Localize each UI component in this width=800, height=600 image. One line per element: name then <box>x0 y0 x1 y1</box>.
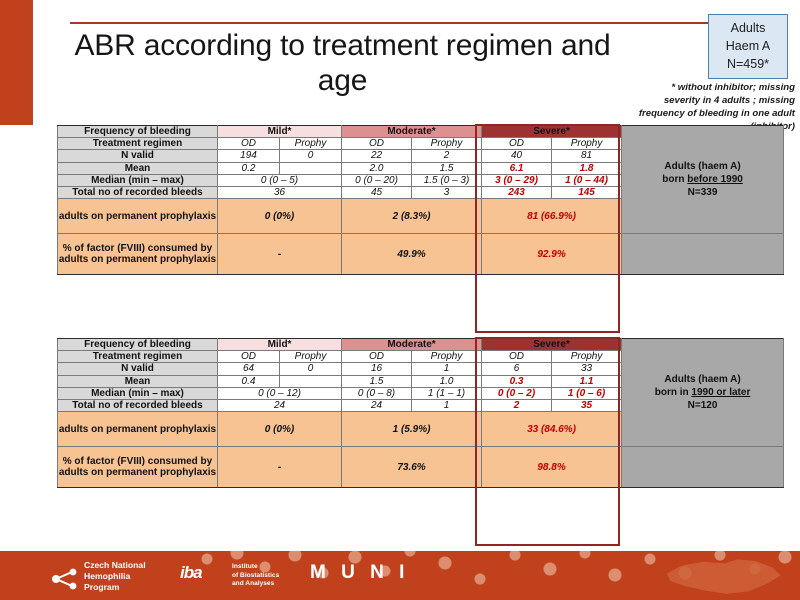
t1-factor-severe: 92.9% <box>482 234 622 275</box>
label-n-valid: N valid <box>58 150 218 162</box>
t2-total-severe-prophy: 35 <box>552 399 622 411</box>
t1-median-mild: 0 (0 – 5) <box>218 174 342 186</box>
callout-line-2: Haem A <box>711 37 785 55</box>
regimen-mild-prophy: Prophy <box>280 138 342 150</box>
t2-mean-moderate-prophy: 1.0 <box>412 375 482 387</box>
accent-block-left <box>0 0 33 125</box>
footnote-line-1: * without inhibitor; missing <box>610 82 795 95</box>
side-panel-line-3: N=120 <box>622 399 783 412</box>
regimen-severe-prophy: Prophy <box>552 351 622 363</box>
logo-czech-text: Czech National Hemophilia Program <box>84 560 146 593</box>
label-total-bleeds: Total no of recorded bleeds <box>58 399 218 411</box>
t2-n-valid-severe-prophy: 33 <box>552 363 622 375</box>
callout-adults-haem-a: Adults Haem A N=459* <box>708 14 788 79</box>
footnote-line-2: severity in 4 adults ; missing <box>610 95 795 108</box>
iba-wordmark: iba <box>180 563 202 583</box>
header-treatment-regimen: Treatment regimen <box>58 351 218 363</box>
regimen-moderate-prophy: Prophy <box>412 351 482 363</box>
t2-prophylaxis-mild: 0 (0%) <box>218 412 342 447</box>
header-frequency-of-bleeding: Frequency of bleeding <box>58 126 218 138</box>
label-permanent-prophylaxis: adults on permanent prophylaxis <box>58 412 218 447</box>
t2-prophylaxis-severe: 33 (84.6%) <box>482 412 622 447</box>
t2-factor-severe: 98.8% <box>482 447 622 488</box>
footer-band: Czech National Hemophilia Program iba In… <box>0 551 800 600</box>
t1-mean-severe-od: 6.1 <box>482 162 552 174</box>
table-row-factor-consumed: % of factor (FVIII) consumed by adults o… <box>58 234 784 275</box>
t1-mean-moderate-od: 2.0 <box>342 162 412 174</box>
t1-prophylaxis-moderate: 2 (8.3%) <box>342 199 482 234</box>
logo-muni: M U N I <box>310 562 409 584</box>
t1-median-moderate-od: 0 (0 – 20) <box>342 174 412 186</box>
side-panel-line-1: Adults (haem A) <box>622 160 783 173</box>
side-panel-spacer-2 <box>622 447 784 488</box>
t2-factor-mild: - <box>218 447 342 488</box>
t2-total-moderate-od: 24 <box>342 399 412 411</box>
iba-subtitle: Institute of Biostatistics and Analyses <box>232 563 279 589</box>
t1-total-moderate-prophy: 3 <box>412 186 482 198</box>
regimen-mild-od: OD <box>218 351 280 363</box>
t2-mean-mild-od: 0.4 <box>218 375 280 387</box>
table-born-1990-or-later: Frequency of bleeding Mild* Moderate* Se… <box>57 338 784 488</box>
regimen-severe-od: OD <box>482 138 552 150</box>
footnote-line-3: frequency of bleeding in one adult <box>610 108 795 121</box>
label-factor-consumed: % of factor (FVIII) consumed by adults o… <box>58 447 218 488</box>
side-panel-line-2: born in 1990 or later <box>622 386 783 399</box>
t2-median-severe-od: 0 (0 – 2) <box>482 387 552 399</box>
side-panel-spacer-1 <box>622 234 784 275</box>
t1-n-valid-moderate-prophy: 2 <box>412 150 482 162</box>
header-moderate: Moderate* <box>342 126 482 138</box>
t1-prophylaxis-mild: 0 (0%) <box>218 199 342 234</box>
callout-line-3: N=459* <box>711 55 785 73</box>
t2-prophylaxis-moderate: 1 (5.9%) <box>342 412 482 447</box>
t2-total-moderate-prophy: 1 <box>412 399 482 411</box>
regimen-mild-od: OD <box>218 138 280 150</box>
regimen-moderate-od: OD <box>342 351 412 363</box>
t2-total-mild: 24 <box>218 399 342 411</box>
t1-factor-moderate: 49.9% <box>342 234 482 275</box>
t2-total-severe-od: 2 <box>482 399 552 411</box>
side-panel-born-1990-or-later: Adults (haem A) born in 1990 or later N=… <box>622 339 784 447</box>
title-rule <box>70 22 783 24</box>
table-row-factor-consumed: % of factor (FVIII) consumed by adults o… <box>58 447 784 488</box>
regimen-severe-od: OD <box>482 351 552 363</box>
side-panel-line-2: born before 1990 <box>622 173 783 186</box>
t2-factor-moderate: 73.6% <box>342 447 482 488</box>
t1-median-moderate-prophy: 1.5 (0 – 3) <box>412 174 482 186</box>
header-severe: Severe* <box>482 339 622 351</box>
t1-total-mild: 36 <box>218 186 342 198</box>
label-median: Median (min – max) <box>58 387 218 399</box>
t1-n-valid-moderate-od: 22 <box>342 150 412 162</box>
t2-median-moderate-prophy: 1 (1 – 1) <box>412 387 482 399</box>
t2-median-moderate-od: 0 (0 – 8) <box>342 387 412 399</box>
label-n-valid: N valid <box>58 363 218 375</box>
side-panel-line-3: N=339 <box>622 186 783 199</box>
t1-factor-mild: - <box>218 234 342 275</box>
table-row-header-severity: Frequency of bleeding Mild* Moderate* Se… <box>58 126 784 138</box>
label-mean: Mean <box>58 375 218 387</box>
label-total-bleeds: Total no of recorded bleeds <box>58 186 218 198</box>
t2-mean-severe-prophy: 1.1 <box>552 375 622 387</box>
t1-total-severe-prophy: 145 <box>552 186 622 198</box>
t2-n-valid-mild-prophy: 0 <box>280 363 342 375</box>
label-permanent-prophylaxis: adults on permanent prophylaxis <box>58 199 218 234</box>
t1-median-severe-prophy: 1 (0 – 44) <box>552 174 622 186</box>
side-panel-born-before-1990: Adults (haem A) born before 1990 N=339 <box>622 126 784 234</box>
t1-mean-moderate-prophy: 1.5 <box>412 162 482 174</box>
t1-n-valid-severe-prophy: 81 <box>552 150 622 162</box>
table-row-header-severity: Frequency of bleeding Mild* Moderate* Se… <box>58 339 784 351</box>
label-median: Median (min – max) <box>58 174 218 186</box>
page-title: ABR according to treatment regimen and a… <box>70 28 615 99</box>
callout-line-1: Adults <box>711 19 785 37</box>
header-severe: Severe* <box>482 126 622 138</box>
t1-prophylaxis-severe: 81 (66.9%) <box>482 199 622 234</box>
table-born-before-1990: Frequency of bleeding Mild* Moderate* Se… <box>57 125 784 275</box>
t2-n-valid-severe-od: 6 <box>482 363 552 375</box>
t2-median-severe-prophy: 1 (0 – 6) <box>552 387 622 399</box>
t1-total-moderate-od: 45 <box>342 186 412 198</box>
t2-mean-severe-od: 0.3 <box>482 375 552 387</box>
t2-median-mild: 0 (0 – 12) <box>218 387 342 399</box>
side-panel-line-1: Adults (haem A) <box>622 373 783 386</box>
regimen-moderate-od: OD <box>342 138 412 150</box>
header-mild: Mild* <box>218 126 342 138</box>
header-frequency-of-bleeding: Frequency of bleeding <box>58 339 218 351</box>
t1-mean-mild-prophy <box>280 162 342 174</box>
regimen-mild-prophy: Prophy <box>280 351 342 363</box>
regimen-moderate-prophy: Prophy <box>412 138 482 150</box>
t1-n-valid-mild-prophy: 0 <box>280 150 342 162</box>
t2-n-valid-moderate-od: 16 <box>342 363 412 375</box>
label-mean: Mean <box>58 162 218 174</box>
t1-n-valid-severe-od: 40 <box>482 150 552 162</box>
header-moderate: Moderate* <box>342 339 482 351</box>
molecule-icon <box>52 568 78 590</box>
t1-n-valid-mild-od: 194 <box>218 150 280 162</box>
t1-total-severe-od: 243 <box>482 186 552 198</box>
t2-mean-mild-prophy <box>280 375 342 387</box>
t2-n-valid-mild-od: 64 <box>218 363 280 375</box>
header-treatment-regimen: Treatment regimen <box>58 138 218 150</box>
t1-median-severe-od: 3 (0 – 29) <box>482 174 552 186</box>
t2-n-valid-moderate-prophy: 1 <box>412 363 482 375</box>
t1-mean-severe-prophy: 1.8 <box>552 162 622 174</box>
header-mild: Mild* <box>218 339 342 351</box>
regimen-severe-prophy: Prophy <box>552 138 622 150</box>
t2-mean-moderate-od: 1.5 <box>342 375 412 387</box>
label-factor-consumed: % of factor (FVIII) consumed by adults o… <box>58 234 218 275</box>
t1-mean-mild-od: 0.2 <box>218 162 280 174</box>
